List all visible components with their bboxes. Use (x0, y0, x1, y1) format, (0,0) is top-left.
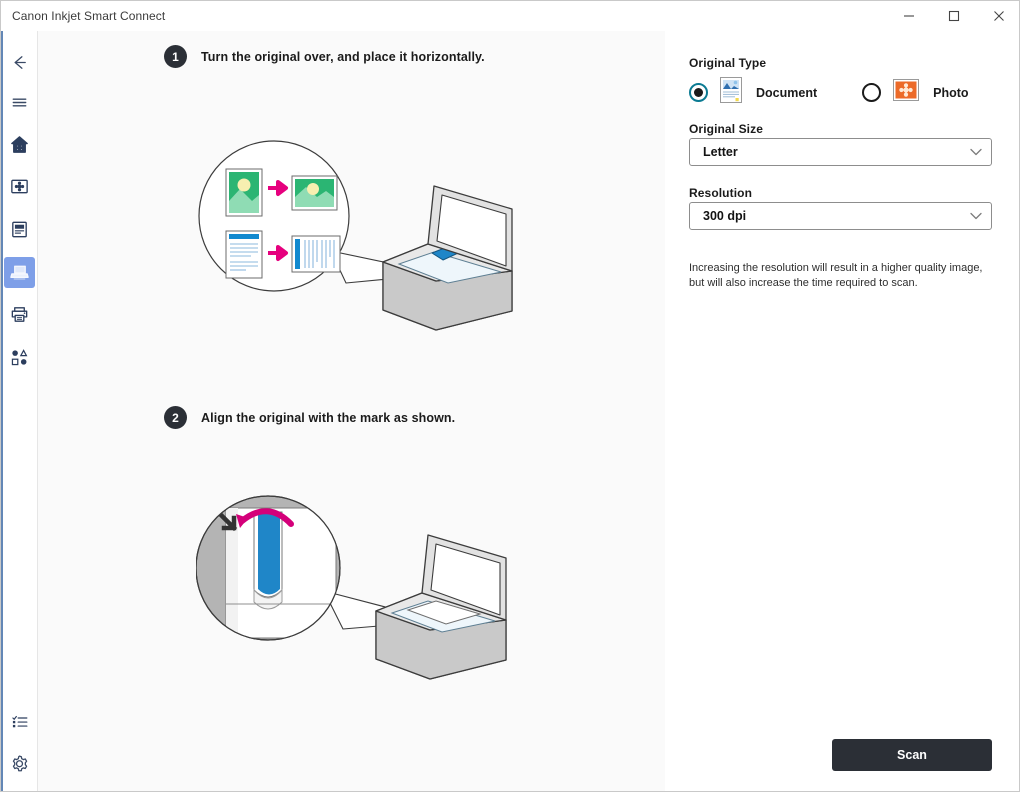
original-size-label: Original Size (689, 122, 763, 136)
original-type-radio-group: Document Photo (689, 77, 969, 108)
app-window: Canon Inkjet Smart Connect (0, 0, 1020, 792)
main-content: 1 Turn the original over, and place it h… (38, 31, 665, 792)
radio-button-photo[interactable] (862, 83, 881, 102)
menu-icon (10, 93, 29, 112)
photo-thumbnail-icon (893, 79, 919, 106)
step-instruction-text: Turn the original over, and place it hor… (201, 50, 485, 64)
sidebar (1, 31, 38, 792)
chevron-down-icon[interactable] (961, 212, 991, 220)
original-type-option-photo[interactable]: Photo (862, 79, 968, 106)
sidebar-item-printer[interactable] (4, 299, 35, 330)
back-arrow-icon (10, 53, 29, 72)
scanner-place-original-illustration (196, 131, 526, 336)
chevron-down-icon[interactable] (961, 148, 991, 156)
title-bar: Canon Inkjet Smart Connect (1, 1, 1020, 31)
sidebar-item-document-print[interactable] (4, 214, 35, 245)
maximize-icon[interactable] (931, 1, 976, 31)
minimize-icon[interactable] (886, 1, 931, 31)
settings-panel: Original Type (665, 31, 1020, 792)
window-title: Canon Inkjet Smart Connect (1, 9, 165, 23)
gear-icon (8, 753, 31, 776)
document-thumbnail-icon (720, 77, 742, 108)
scan-button[interactable]: Scan (832, 739, 992, 771)
sidebar-item-templates[interactable] (4, 342, 35, 373)
original-type-label-document: Document (756, 86, 817, 100)
resolution-helper-text: Increasing the resolution will result in… (689, 261, 989, 291)
step-1: 1 Turn the original over, and place it h… (164, 45, 485, 68)
step-2: 2 Align the original with the mark as sh… (164, 406, 455, 429)
step-instruction-text: Align the original with the mark as show… (201, 411, 455, 425)
document-print-icon (9, 219, 30, 240)
scan-icon (9, 262, 30, 283)
shapes-icon (9, 347, 30, 368)
sidebar-item-scan[interactable] (4, 257, 35, 288)
original-size-value: Letter (690, 145, 961, 159)
step-number-badge: 2 (164, 406, 187, 429)
radio-button-document[interactable] (689, 83, 708, 102)
list-icon (10, 712, 30, 732)
sidebar-item-photo-print[interactable] (4, 171, 35, 202)
printer-icon (9, 304, 30, 325)
sidebar-accent-bar (1, 31, 3, 792)
home-icon (9, 134, 30, 155)
sidebar-item-queue[interactable] (4, 706, 35, 737)
original-size-select[interactable]: Letter (689, 138, 992, 166)
step-number-badge: 1 (164, 45, 187, 68)
scanner-align-mark-illustration (196, 486, 526, 691)
resolution-value: 300 dpi (690, 209, 961, 223)
resolution-label: Resolution (689, 186, 752, 200)
sidebar-item-home[interactable] (4, 129, 35, 160)
original-type-label-photo: Photo (933, 86, 968, 100)
sidebar-item-settings[interactable] (4, 749, 35, 780)
sidebar-item-back[interactable] (4, 47, 35, 78)
original-type-label: Original Type (689, 56, 766, 70)
resolution-select[interactable]: 300 dpi (689, 202, 992, 230)
close-icon[interactable] (976, 1, 1020, 31)
photo-print-icon (9, 176, 30, 197)
sidebar-item-menu[interactable] (4, 87, 35, 118)
original-type-option-document[interactable]: Document (689, 77, 817, 108)
